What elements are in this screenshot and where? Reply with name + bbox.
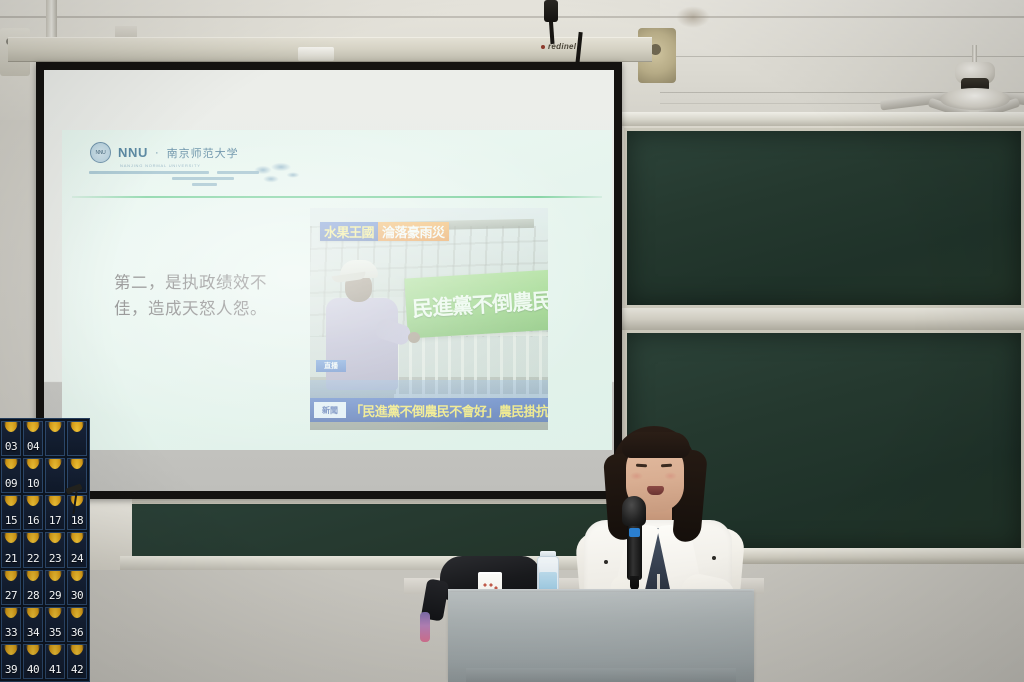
number-cell[interactable]: 24 xyxy=(67,532,87,567)
number-cell[interactable]: 40 xyxy=(23,644,43,679)
ceiling-seam-line xyxy=(0,16,1024,18)
presenter-hair-fringe xyxy=(622,432,690,458)
news-live-badge: 直播 xyxy=(316,360,346,372)
number-cell[interactable]: 16 xyxy=(23,495,43,530)
news-protest-banner: 民進黨不倒農民不 xyxy=(404,269,548,338)
number-cell[interactable]: 39 xyxy=(1,644,21,679)
fan-hub xyxy=(940,88,1010,110)
number-cell-label: 27 xyxy=(5,589,17,602)
wall-smudge xyxy=(676,6,710,28)
number-cell-label: 28 xyxy=(27,589,39,602)
number-cell[interactable]: 34 xyxy=(23,607,43,642)
number-cell-label: 18 xyxy=(71,514,83,527)
number-cell-label: 39 xyxy=(5,663,17,676)
number-cell[interactable]: 21 xyxy=(1,532,21,567)
number-cell[interactable]: 10 xyxy=(23,458,43,493)
slide-text-line-2: 佳，造成天怒人怨。 xyxy=(114,296,304,322)
number-cell[interactable]: 42 xyxy=(67,644,87,679)
number-cell-label: 30 xyxy=(71,589,83,602)
slide-deco-bar-2 xyxy=(172,177,234,180)
number-cell[interactable]: 15 xyxy=(1,495,21,530)
number-cell[interactable]: 18 xyxy=(67,495,87,530)
number-cell[interactable]: 29 xyxy=(45,570,65,605)
ceiling-line-a xyxy=(660,56,1024,57)
presenter-cheek-right xyxy=(664,472,677,480)
presenter-cheek-left xyxy=(630,472,643,480)
number-cell-label: 33 xyxy=(5,626,17,639)
microphone-base xyxy=(630,576,639,590)
wall-pipe xyxy=(46,0,57,40)
number-cell-label: 29 xyxy=(49,589,61,602)
number-cell[interactable]: 28 xyxy=(23,570,43,605)
university-logo: NNU NNU · 南京师范大学 xyxy=(90,142,239,163)
number-cell[interactable]: 36 xyxy=(67,607,87,642)
hanging-mic-clip xyxy=(544,0,558,22)
number-cell-label: 03 xyxy=(5,440,17,453)
logo-chinese-name: 南京师范大学 xyxy=(167,145,239,161)
slide-divider-rule xyxy=(72,196,602,198)
screen-center-clip xyxy=(298,47,334,61)
logo-english-subtitle: NANJING NORMAL UNIVERSITY xyxy=(120,163,201,168)
number-cell[interactable]: 23 xyxy=(45,532,65,567)
farmer-hand xyxy=(408,332,420,343)
wall-number-board[interactable]: 0304091015161718212223242728293033343536… xyxy=(0,418,90,682)
backpack-tassel xyxy=(420,612,430,642)
number-cell-label: 04 xyxy=(27,440,39,453)
presenter-mouth xyxy=(647,486,664,495)
brand-dot-icon xyxy=(541,45,545,49)
news-lower-band xyxy=(310,380,548,400)
number-cell-label: 36 xyxy=(71,626,83,639)
number-cell-label: 42 xyxy=(71,663,83,676)
blackboard-top-ledge xyxy=(612,112,1024,126)
number-cell[interactable]: 35 xyxy=(45,607,65,642)
number-cell-label: 41 xyxy=(49,663,61,676)
number-cell-label: 10 xyxy=(27,477,39,490)
number-cell-empty[interactable] xyxy=(67,421,87,456)
news-caption-text: 「民進黨不倒農民不會好」農民掛抗議 xyxy=(350,401,548,420)
slide-deco-bar-4 xyxy=(192,183,217,186)
number-cell[interactable]: 17 xyxy=(45,495,65,530)
slide-body-text: 第二，是执政绩效不 佳，造成天怒人怨。 xyxy=(114,270,304,321)
blackboard-middle-rail xyxy=(612,308,1024,330)
number-cell[interactable]: 27 xyxy=(1,570,21,605)
projection-screen[interactable]: NNU NNU · 南京师范大学 NANJING NORMAL UNIVERSI… xyxy=(36,62,622,499)
number-cell-label: 16 xyxy=(27,514,39,527)
screen-surface: NNU NNU · 南京师范大学 NANJING NORMAL UNIVERSI… xyxy=(44,70,614,491)
news-headline-bar: 水果王國 淪落豪雨災 xyxy=(320,222,449,241)
number-cell[interactable]: 04 xyxy=(23,421,43,456)
jacket-button-left xyxy=(604,560,608,564)
logo-separator: · xyxy=(155,147,160,159)
number-cell-empty[interactable] xyxy=(45,458,65,493)
number-cell-label: 17 xyxy=(49,514,61,527)
presentation-slide: NNU NNU · 南京师范大学 NANJING NORMAL UNIVERSI… xyxy=(62,130,612,450)
number-cell[interactable]: 09 xyxy=(1,458,21,493)
embedded-news-photo: 水果王國 淪落豪雨災 民進黨不倒農民不 xyxy=(310,208,548,430)
news-caption-bar: 新聞 「民進黨不倒農民不會好」農民掛抗議 xyxy=(310,398,548,422)
podium-base-inset xyxy=(466,668,736,682)
number-cell[interactable]: 22 xyxy=(23,532,43,567)
microphone-badge-icon xyxy=(629,528,640,537)
slide-deco-bar-1 xyxy=(89,171,209,174)
number-cell[interactable]: 30 xyxy=(67,570,87,605)
jacket-button-right xyxy=(712,556,716,560)
news-headline-orange: 淪落豪雨災 xyxy=(378,222,449,241)
logo-abbrev: NNU xyxy=(118,145,148,160)
number-cell-label: 40 xyxy=(27,663,39,676)
number-cell-label: 21 xyxy=(5,552,17,565)
number-cell-label: 09 xyxy=(5,477,17,490)
news-caption-tag: 新聞 xyxy=(314,402,346,418)
number-cell-label: 23 xyxy=(49,552,61,565)
classroom-scene: redinel NNU NNU · xyxy=(0,0,1024,682)
farmer-shirt xyxy=(326,298,398,390)
blackboard-upper-panel[interactable] xyxy=(624,128,1024,308)
number-cell-label: 34 xyxy=(27,626,39,639)
number-cell-label: 15 xyxy=(5,514,17,527)
seal-text: NNU xyxy=(96,150,106,156)
slide-cloud-motif-icon xyxy=(247,162,307,188)
number-cell-label: 22 xyxy=(27,552,39,565)
number-cell-label: 35 xyxy=(49,626,61,639)
rear-blackboard-panel xyxy=(130,502,622,558)
slide-text-line-1: 第二，是执政绩效不 xyxy=(114,270,304,296)
news-protest-banner-text: 民進黨不倒農民不 xyxy=(411,283,548,323)
number-cell-empty[interactable] xyxy=(45,421,65,456)
number-cell[interactable]: 33 xyxy=(1,607,21,642)
microphone-head-icon[interactable] xyxy=(622,496,646,526)
university-seal-icon: NNU xyxy=(90,142,111,163)
number-cell-label: 24 xyxy=(71,552,83,565)
number-cell[interactable]: 03 xyxy=(1,421,21,456)
news-headline-blue: 水果王國 xyxy=(320,222,378,241)
number-cell[interactable]: 41 xyxy=(45,644,65,679)
